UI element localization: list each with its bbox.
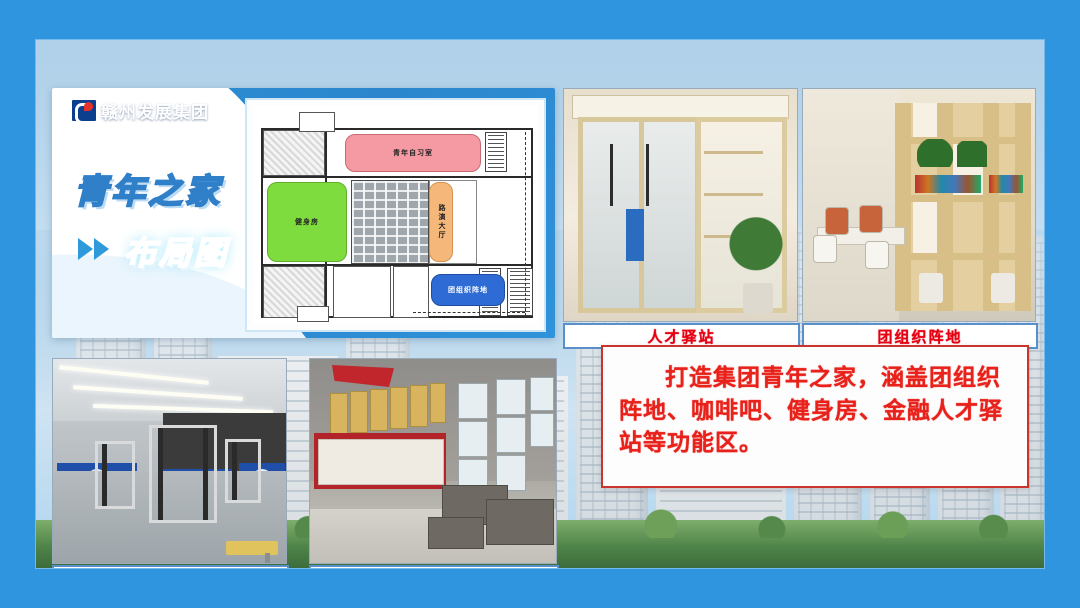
floorplan-room-roadshow-hall: 路演大厅: [429, 182, 453, 262]
floorplan-room-label: 团组织阵地: [448, 285, 488, 295]
page-subtitle: 布局图: [124, 228, 229, 274]
talent-station-photo: [563, 88, 798, 322]
caption-text: 健身房: [145, 568, 196, 569]
coffee-bar-caption: 咖啡吧: [309, 565, 559, 568]
floorplan-stair: [507, 268, 533, 316]
gym-photo: [52, 358, 287, 564]
brand-name: 赣州发展集团: [101, 98, 209, 123]
floorplan-boundary: [413, 312, 525, 313]
floorplan-room: [299, 112, 335, 132]
floorplan-hero-card: 赣州发展集团 青年之家 布局图: [52, 88, 555, 338]
floorplan-service-core: [263, 130, 325, 176]
floorplan-room-youth-study: 青年自习室: [345, 134, 481, 172]
floorplan-drawing: 青年自习室 健身房 路演大厅 团组织阵地: [245, 98, 546, 332]
description-text: 打造集团青年之家，涵盖团组织阵地、咖啡吧、健身房、金融人才驿站等功能区。: [619, 361, 1011, 459]
presentation-slide: 赣州发展集团 青年之家 布局图: [36, 40, 1044, 568]
brand-logo: 赣州发展集团: [72, 98, 209, 123]
floorplan-room-label: 青年自习室: [393, 148, 433, 158]
floorplan-room: [393, 266, 429, 318]
floorplan-room-gym: 健身房: [267, 182, 347, 262]
double-arrow-right-icon: [78, 238, 109, 260]
gym-caption: 健身房: [52, 565, 289, 568]
floorplan-stair: [485, 132, 507, 172]
description-textbox: 打造集团青年之家，涵盖团组织阵地、咖啡吧、健身房、金融人才驿站等功能区。: [601, 345, 1029, 488]
page-title: 青年之家: [74, 164, 222, 213]
caption-text: 咖啡吧: [408, 568, 459, 569]
slide-canvas: 赣州发展集团 青年之家 布局图: [0, 0, 1080, 608]
floorplan-room-label: 路演大厅: [436, 204, 446, 240]
floorplan-boundary: [525, 132, 526, 316]
floorplan-room-label: 健身房: [295, 217, 319, 227]
floorplan-room: [297, 306, 329, 322]
coffee-bar-photo: [309, 358, 557, 564]
youth-league-base-photo: [802, 88, 1036, 322]
gz-group-logo-icon: [72, 100, 96, 121]
caption-text: 团组织阵地: [877, 326, 962, 347]
floorplan-room-league-base: 团组织阵地: [431, 274, 505, 306]
floorplan-seating-hall: [351, 180, 429, 264]
floorplan-room: [333, 266, 391, 318]
caption-text: 人才驿站: [647, 326, 715, 347]
